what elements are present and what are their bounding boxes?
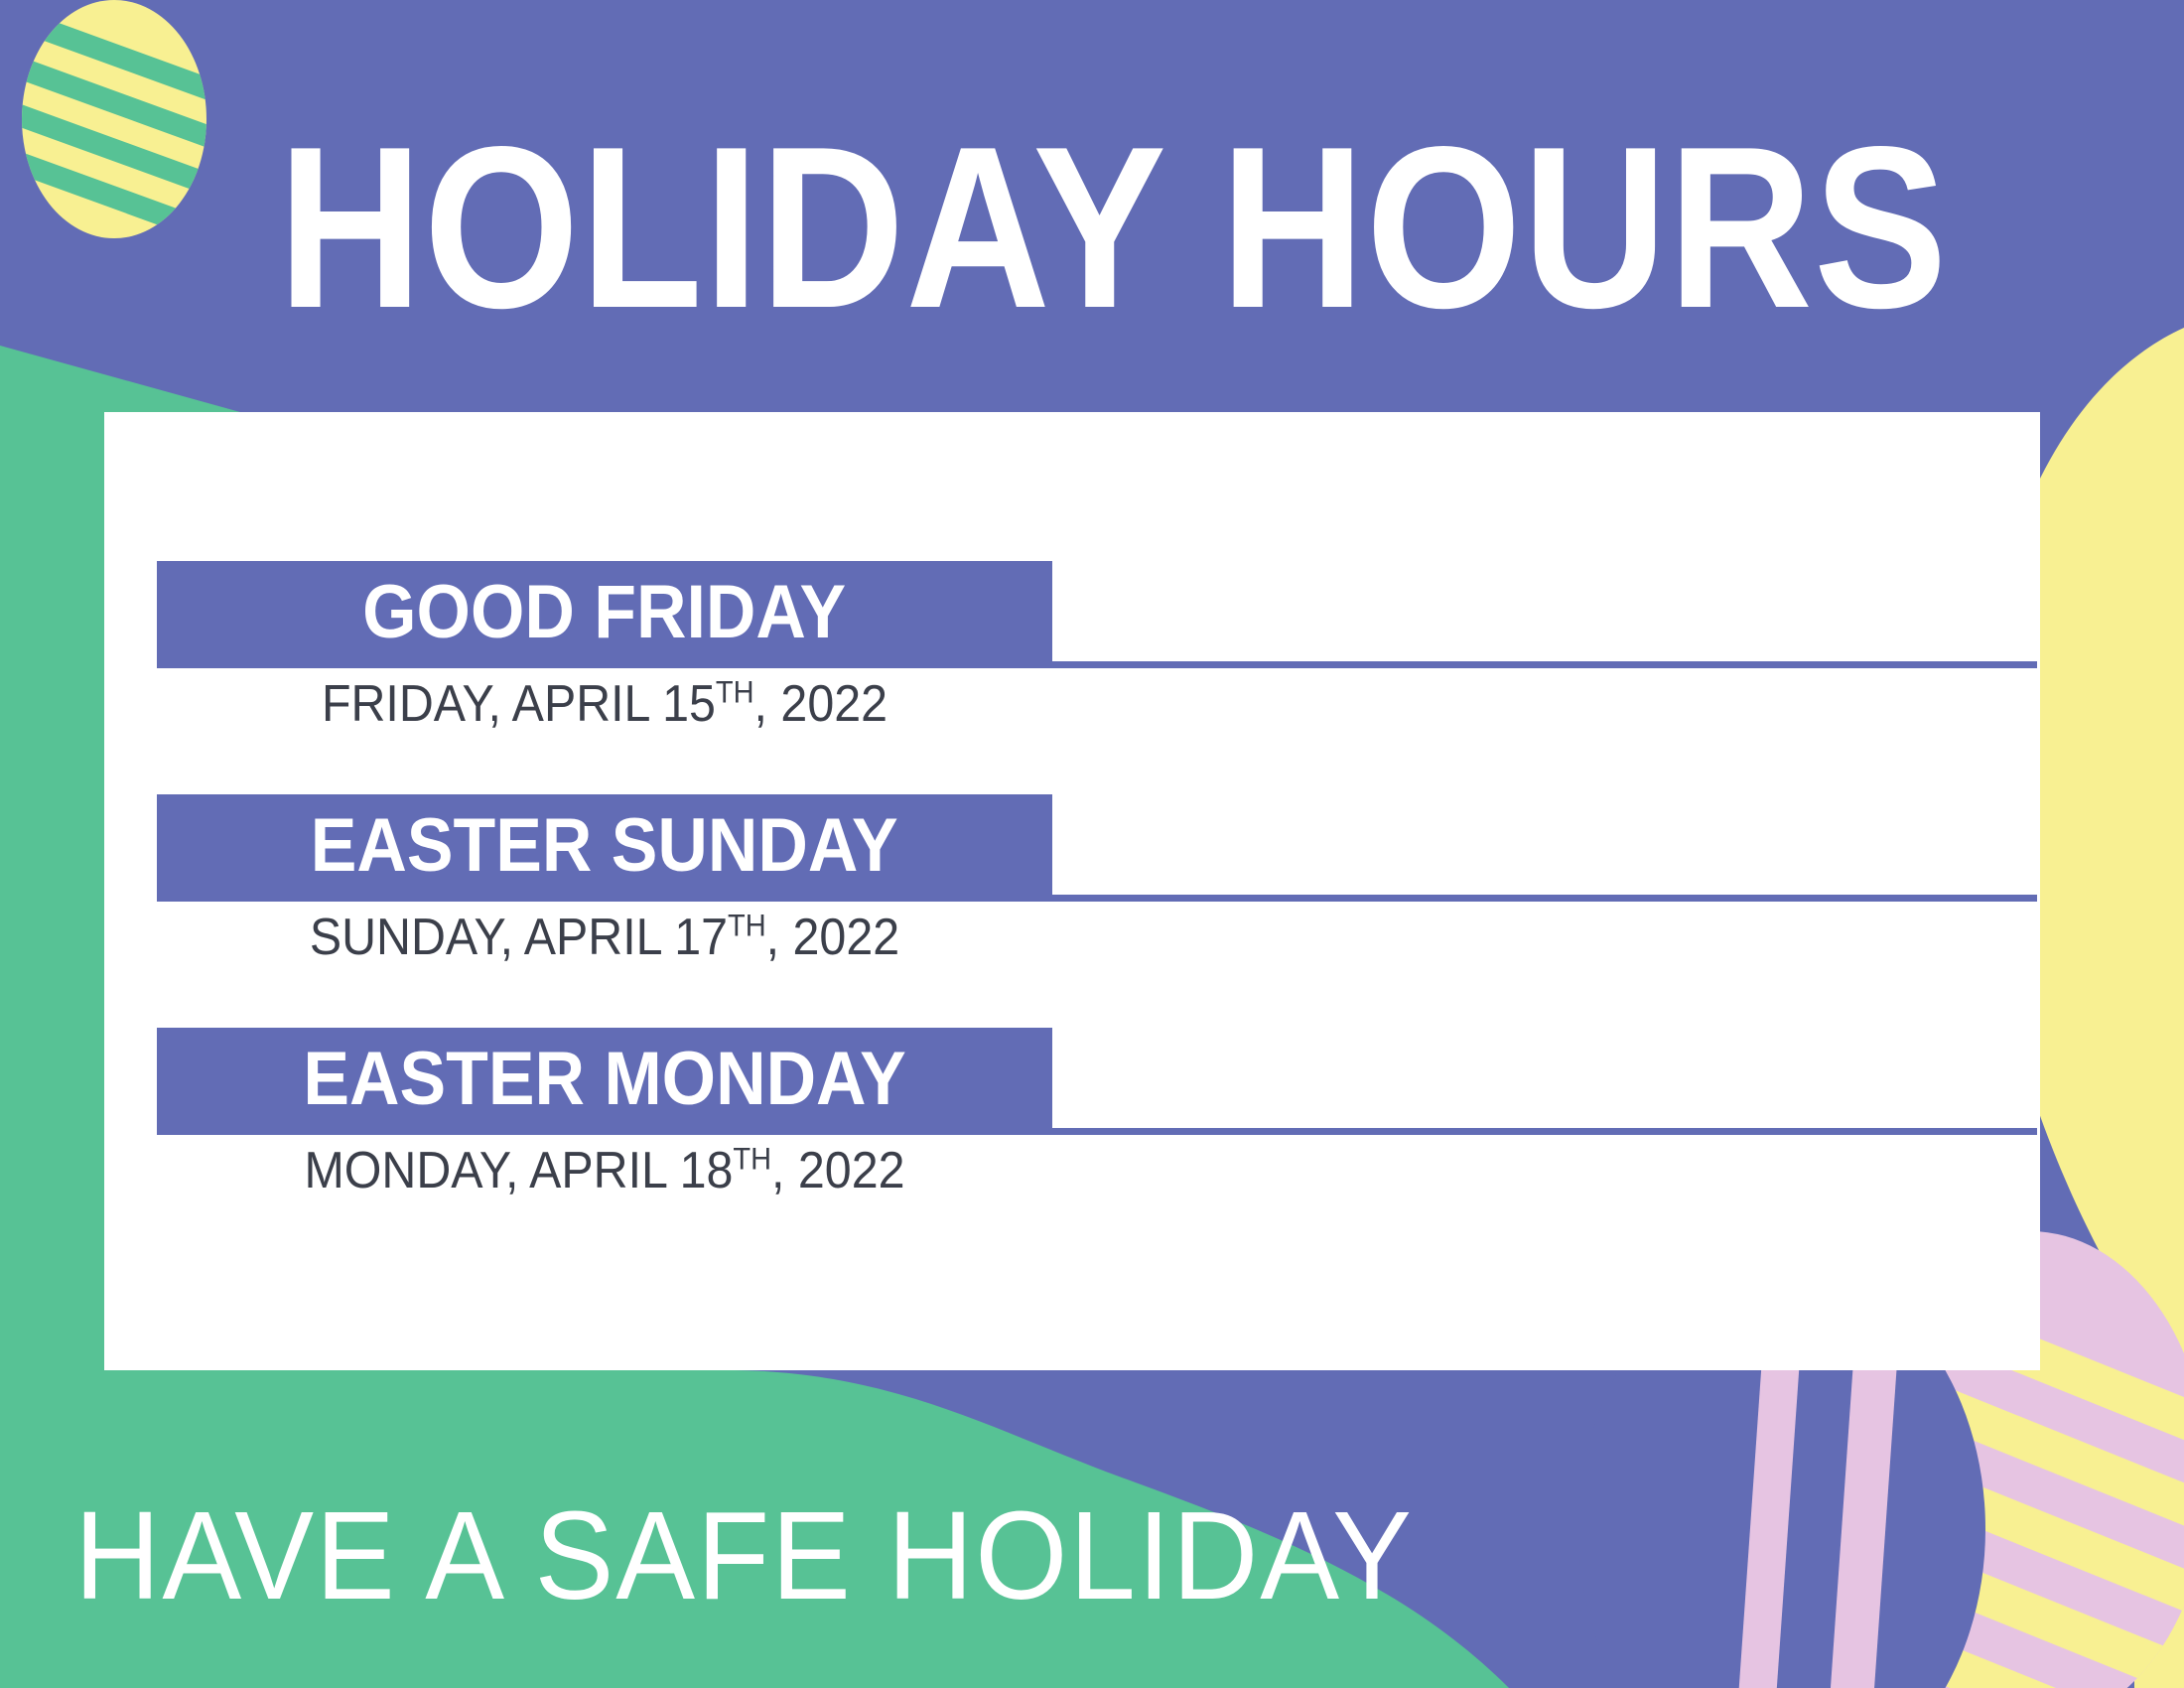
holiday-date-prefix: MONDAY, APRIL 18 xyxy=(305,1142,734,1199)
schedule-row: EASTER MONDAY MONDAY, APRIL 18TH, 2022 xyxy=(104,1028,2040,1261)
holiday-name-label: GOOD FRIDAY xyxy=(363,573,847,656)
holiday-date-ordinal: TH xyxy=(728,909,766,943)
holiday-date-ordinal: TH xyxy=(716,675,754,710)
holiday-name-bar: EASTER MONDAY xyxy=(157,1028,1052,1135)
holiday-date-label: MONDAY, APRIL 18TH, 2022 xyxy=(189,1139,1022,1202)
page-title: HOLIDAY HOURS xyxy=(278,119,1763,338)
holiday-date-suffix: , 2022 xyxy=(754,675,887,733)
schedule-rows: GOOD FRIDAY FRIDAY, APRIL 15TH, 2022 EAS… xyxy=(104,412,2040,1370)
holiday-name-label: EASTER MONDAY xyxy=(303,1040,905,1123)
holiday-name-bar: EASTER SUNDAY xyxy=(157,794,1052,902)
poster-canvas: HOLIDAY HOURS GOOD FRIDAY FRIDAY, APRIL … xyxy=(0,0,2184,1688)
hours-rule-line xyxy=(1052,895,2037,902)
schedule-row: EASTER SUNDAY SUNDAY, APRIL 17TH, 2022 xyxy=(104,794,2040,1028)
holiday-date-ordinal: TH xyxy=(733,1142,771,1177)
hours-rule-line xyxy=(1052,1128,2037,1135)
schedule-card: GOOD FRIDAY FRIDAY, APRIL 15TH, 2022 EAS… xyxy=(104,412,2040,1370)
schedule-row: GOOD FRIDAY FRIDAY, APRIL 15TH, 2022 xyxy=(104,561,2040,794)
holiday-name-bar: GOOD FRIDAY xyxy=(157,561,1052,668)
holiday-name-label: EASTER SUNDAY xyxy=(311,806,898,890)
holiday-date-label: SUNDAY, APRIL 17TH, 2022 xyxy=(189,906,1022,969)
hours-rule-line xyxy=(1052,661,2037,668)
holiday-date-prefix: SUNDAY, APRIL 17 xyxy=(310,909,728,966)
footer-message: HAVE A SAFE HOLIDAY xyxy=(74,1486,1414,1625)
holiday-date-suffix: , 2022 xyxy=(766,909,899,966)
holiday-date-suffix: , 2022 xyxy=(771,1142,904,1199)
holiday-date-label: FRIDAY, APRIL 15TH, 2022 xyxy=(189,672,1022,736)
holiday-date-prefix: FRIDAY, APRIL 15 xyxy=(322,675,716,733)
